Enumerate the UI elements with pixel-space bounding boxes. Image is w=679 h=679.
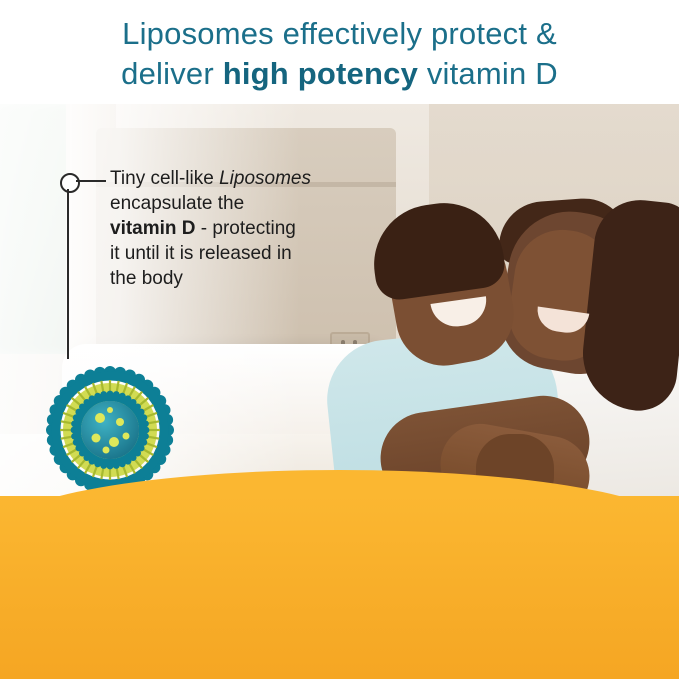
callout-line-4: it until it is released in [110,243,292,264]
callout-dot-icon [60,173,80,193]
callout-line-5: the body [110,268,183,289]
bottom-banner: Patented LIPOSHELL® Technology [0,496,679,679]
headline-line-2: deliver high potency vitamin D [0,54,679,94]
callout-liposomes-italic: Liposomes [219,168,311,189]
callout-line-1-prefix: Tiny cell-like [110,168,219,189]
callout-text: Tiny cell-like Liposomes encapsulate the… [110,166,370,291]
headline-emphasis: high potency [223,56,418,91]
callout-leader-line-vertical-icon [67,189,69,359]
product-infographic: Liposomes effectively protect & deliver … [0,0,679,679]
headline-line-1: Liposomes effectively protect & [122,16,557,51]
callout-line-3-rest: - protecting [196,218,296,239]
callout-vitamin-d-bold: vitamin D [110,218,196,239]
page-title: Liposomes effectively protect & deliver … [0,14,679,94]
headline-line-2-prefix: deliver [121,56,223,91]
callout-line-2: encapsulate the [110,193,244,214]
headline-line-2-suffix: vitamin D [418,56,558,91]
callout-leader-line-horizontal-icon [76,180,106,182]
